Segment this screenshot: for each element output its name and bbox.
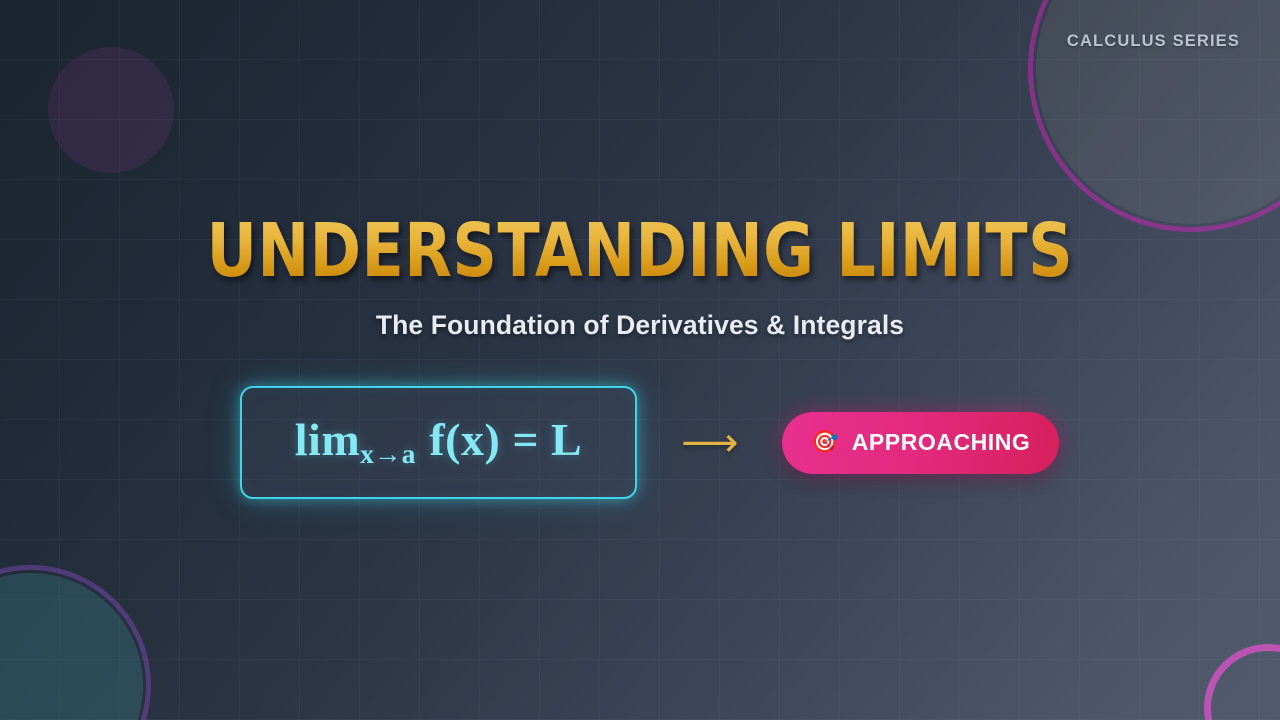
status-badge: 🎯 APPROACHING (782, 412, 1059, 474)
right-arrow-icon: ⟶ (681, 423, 738, 463)
top-left-purple-circle (48, 47, 174, 173)
formula-subscript: x→a (360, 438, 417, 469)
series-eyebrow-label: CALCULUS SERIES (1067, 32, 1240, 51)
bottom-left-teal-circle (0, 573, 143, 720)
formula-expression: f(x) = L (429, 414, 582, 465)
page-title: UNDERSTANDING LIMITS (0, 214, 1280, 289)
limit-formula: limx→af(x) = L (295, 417, 582, 468)
page-title-text: UNDERSTANDING LIMITS (207, 214, 1074, 289)
page-subtitle: The Foundation of Derivatives & Integral… (0, 310, 1280, 341)
target-dart-icon: 🎯 (811, 432, 838, 454)
presentation-slide: CALCULUS SERIES UNDERSTANDING LIMITS The… (0, 0, 1280, 720)
grid-background (0, 0, 1280, 720)
status-badge-label: APPROACHING (852, 429, 1031, 456)
formula-row: limx→af(x) = L ⟶ 🎯 APPROACHING (240, 386, 1059, 499)
formula-card: limx→af(x) = L (240, 386, 637, 499)
formula-lim-operator: lim (295, 414, 360, 465)
bottom-left-purple-arc (0, 565, 151, 720)
bottom-right-magenta-arc (1204, 644, 1280, 720)
